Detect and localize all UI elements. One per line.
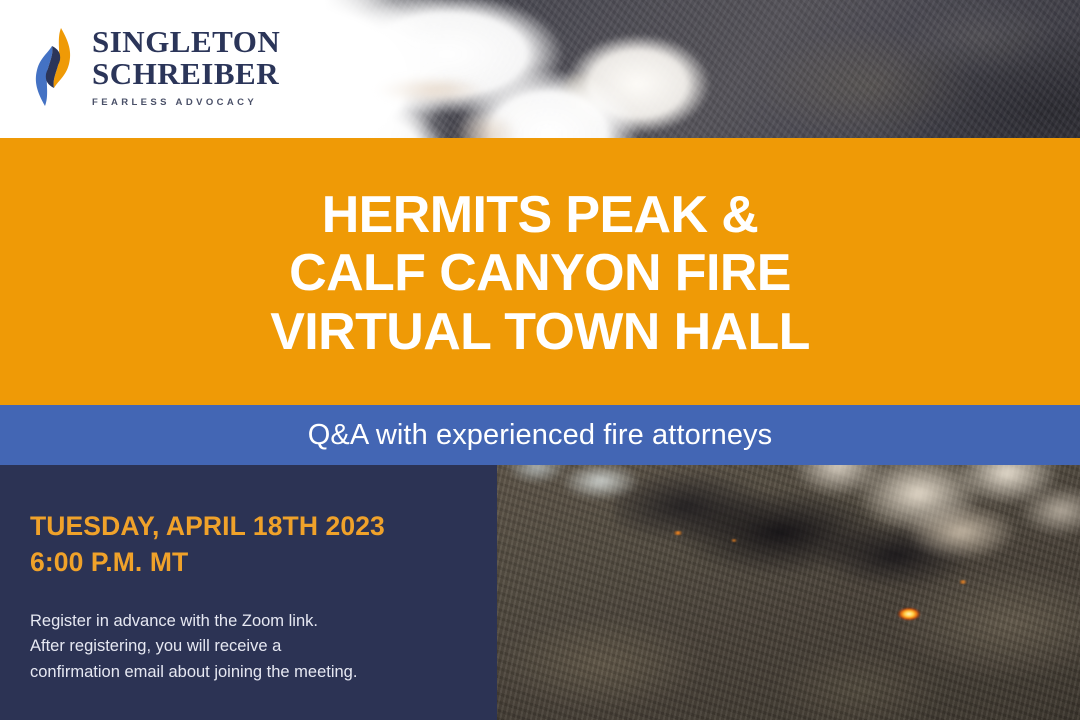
title-band: HERMITS PEAK & CALF CANYON FIRE VIRTUAL … bbox=[0, 138, 1080, 405]
brand-name-line2: SCHREIBER bbox=[92, 58, 280, 90]
subtitle-band: Q&A with experienced fire attorneys bbox=[0, 405, 1080, 465]
brand-name-line1: SINGLETON bbox=[92, 26, 280, 58]
event-details: TUESDAY, APRIL 18TH 2023 6:00 P.M. MT Re… bbox=[30, 509, 470, 685]
header-band: SINGLETON SCHREIBER FEARLESS ADVOCACY bbox=[0, 0, 1080, 138]
registration-line-1: Register in advance with the Zoom link. bbox=[30, 609, 470, 635]
bottom-wildfire-photo bbox=[497, 465, 1080, 720]
registration-note: Register in advance with the Zoom link. … bbox=[30, 609, 470, 686]
brand-name: SINGLETON SCHREIBER bbox=[92, 26, 280, 90]
brand-logo: SINGLETON SCHREIBER FEARLESS ADVOCACY bbox=[28, 26, 280, 108]
event-time: 6:00 P.M. MT bbox=[30, 545, 470, 581]
header-wildfire-photo bbox=[260, 0, 1080, 138]
title-line-2: CALF CANYON FIRE bbox=[289, 244, 791, 302]
header-photo-white-fade bbox=[260, 0, 450, 138]
brand-logo-text: SINGLETON SCHREIBER FEARLESS ADVOCACY bbox=[92, 26, 280, 108]
registration-line-2: After registering, you will receive a bbox=[30, 634, 470, 660]
brand-tagline: FEARLESS ADVOCACY bbox=[92, 97, 280, 108]
title-line-3: VIRTUAL TOWN HALL bbox=[270, 303, 810, 361]
title-line-1: HERMITS PEAK & bbox=[322, 186, 759, 244]
flame-logo-icon bbox=[28, 26, 78, 108]
fire-photo-vignette bbox=[497, 465, 1080, 720]
bottom-band: TUESDAY, APRIL 18TH 2023 6:00 P.M. MT Re… bbox=[0, 465, 1080, 720]
subtitle-text: Q&A with experienced fire attorneys bbox=[308, 419, 773, 452]
event-date: TUESDAY, APRIL 18TH 2023 bbox=[30, 509, 470, 545]
registration-line-3: confirmation email about joining the mee… bbox=[30, 660, 470, 686]
event-flyer: SINGLETON SCHREIBER FEARLESS ADVOCACY HE… bbox=[0, 0, 1080, 720]
